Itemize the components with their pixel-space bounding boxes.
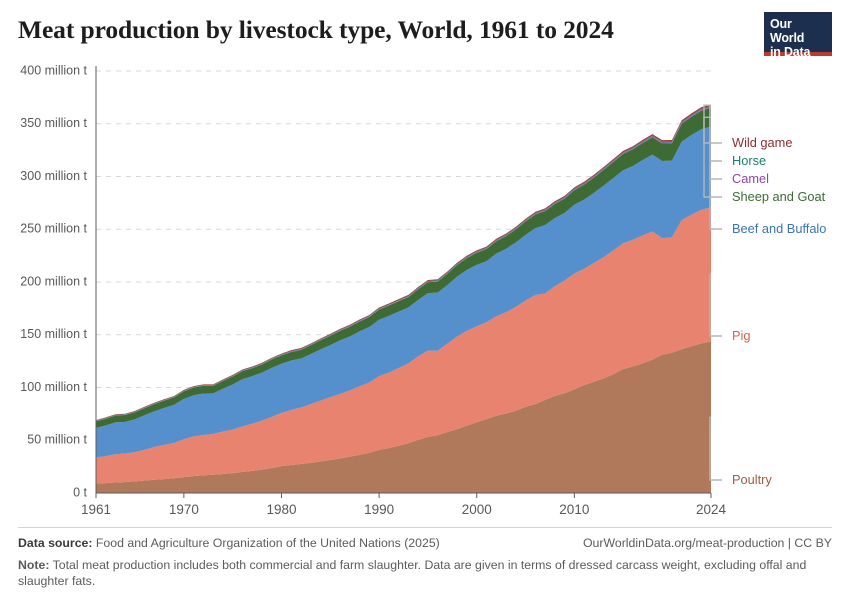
y-tick-label: 300 million t bbox=[20, 169, 87, 183]
chart-footer: Data source: Food and Agriculture Organi… bbox=[18, 527, 832, 589]
area-series[interactable] bbox=[96, 104, 711, 493]
x-tick-label: 2000 bbox=[462, 502, 492, 517]
logo-line-2: in Data bbox=[770, 45, 827, 59]
legend-label-horse[interactable]: Horse bbox=[732, 153, 766, 168]
x-tick-label: 1980 bbox=[266, 502, 296, 517]
x-tick-label: 2024 bbox=[696, 502, 727, 517]
attribution-link[interactable]: OurWorldinData.org/meat-production | CC … bbox=[583, 535, 832, 552]
data-source-label: Data source: bbox=[18, 536, 93, 550]
legend-label-camel[interactable]: Camel bbox=[732, 171, 769, 186]
chart-plot-area[interactable]: 0 t50 million t100 million t150 million … bbox=[0, 60, 850, 525]
y-tick-label: 400 million t bbox=[20, 63, 87, 77]
y-tick-label: 0 t bbox=[73, 485, 87, 499]
owid-logo[interactable]: Our World in Data bbox=[764, 12, 832, 56]
legend-label-pig[interactable]: Pig bbox=[732, 328, 751, 343]
chart-page: Meat production by livestock type, World… bbox=[0, 0, 850, 600]
logo-line-1: Our World bbox=[770, 17, 827, 45]
note-text: Total meat production includes both comm… bbox=[18, 558, 806, 588]
legend-connector-beef-and-buffalo bbox=[710, 167, 722, 229]
legend-connector-pig bbox=[710, 274, 722, 336]
y-tick-label: 200 million t bbox=[20, 274, 87, 288]
x-tick-label: 1961 bbox=[81, 502, 111, 517]
legend-label-beef-and-buffalo[interactable]: Beef and Buffalo bbox=[732, 221, 826, 236]
y-axis-labels: 0 t50 million t100 million t150 million … bbox=[20, 63, 87, 499]
legend-connector-poultry bbox=[710, 417, 722, 480]
x-tick-label: 2010 bbox=[559, 502, 589, 517]
stacked-area-chart[interactable]: 0 t50 million t100 million t150 million … bbox=[0, 60, 850, 525]
y-tick-label: 50 million t bbox=[27, 433, 87, 447]
note-label: Note: bbox=[18, 558, 49, 572]
chart-header: Meat production by livestock type, World… bbox=[18, 14, 832, 62]
x-tick-label: 1990 bbox=[364, 502, 394, 517]
y-tick-label: 350 million t bbox=[20, 116, 87, 130]
note-row: Note: Total meat production includes bot… bbox=[18, 557, 808, 589]
data-source-text: Food and Agriculture Organization of the… bbox=[93, 536, 440, 550]
chart-legend[interactable]: Wild gameHorseCamelSheep and GoatBeef an… bbox=[704, 105, 826, 487]
x-axis-labels: 1961197019801990200020102024 bbox=[81, 502, 727, 517]
legend-connector-horse bbox=[710, 106, 722, 161]
y-tick-label: 250 million t bbox=[20, 222, 87, 236]
y-tick-label: 100 million t bbox=[20, 380, 87, 394]
legend-label-poultry[interactable]: Poultry bbox=[732, 472, 772, 487]
legend-label-sheep-and-goat[interactable]: Sheep and Goat bbox=[732, 189, 826, 204]
legend-label-wild-game[interactable]: Wild game bbox=[732, 135, 792, 150]
x-tick-label: 1970 bbox=[169, 502, 199, 517]
page-title: Meat production by livestock type, World… bbox=[18, 14, 832, 46]
data-source-row: Data source: Food and Agriculture Organi… bbox=[18, 535, 832, 552]
y-tick-label: 150 million t bbox=[20, 327, 87, 341]
footer-divider bbox=[18, 527, 832, 528]
